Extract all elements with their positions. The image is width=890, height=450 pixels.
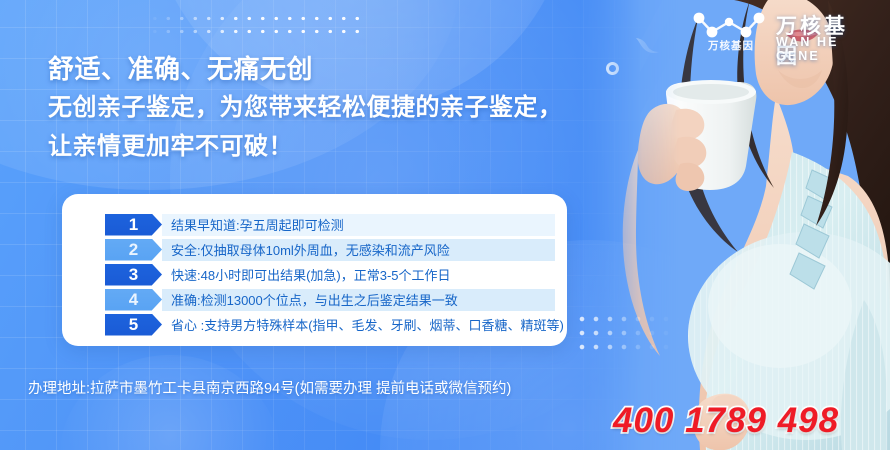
list-item-number: 2 — [105, 239, 162, 261]
list-item: 2 安全:仅抽取母体10ml外周血，无感染和流产风险 — [105, 237, 555, 262]
headline-line-1: 舒适、准确、无痛无创 — [48, 52, 648, 86]
brand-name-en: WAN HE GENE — [776, 35, 870, 63]
headline-block: 舒适、准确、无痛无创 无创亲子鉴定，为您带来轻松便捷的亲子鉴定， 让亲情更加牢不… — [48, 52, 648, 164]
list-item-number: 3 — [105, 264, 162, 286]
list-item-label: 结果早知道:孕五周起即可检测 — [162, 214, 555, 236]
list-item: 5 省心 :支持男方特殊样本(指甲、毛发、牙刷、烟蒂、口香糖、精斑等) — [105, 312, 555, 337]
list-item-label: 快速:48小时即可出结果(加急)，正常3-5个工作日 — [162, 264, 555, 286]
headline-line-2: 无创亲子鉴定，为您带来轻松便捷的亲子鉴定， — [48, 91, 648, 125]
hotline-number[interactable]: 400 1789 498 — [613, 401, 839, 441]
list-item-number: 5 — [105, 314, 162, 336]
list-item: 4 准确:检测13000个位点，与出生之后鉴定结果一致 — [105, 287, 555, 312]
logo-mark-label: 万核基因 — [700, 38, 762, 53]
promo-banner: 万核基因 万核基因 WAN HE GENE 舒适、准确、无痛无创 无创亲子鉴定，… — [0, 0, 890, 450]
molecule-node-icon — [690, 8, 768, 42]
list-item-number: 1 — [105, 214, 162, 236]
list-item: 3 快速:48小时即可出结果(加急)，正常3-5个工作日 — [105, 262, 555, 287]
list-item-label: 省心 :支持男方特殊样本(指甲、毛发、牙刷、烟蒂、口香糖、精斑等) — [162, 314, 564, 336]
list-item: 1 结果早知道:孕五周起即可检测 — [105, 212, 555, 237]
list-item-number: 4 — [105, 289, 162, 311]
list-item-label: 准确:检测13000个位点，与出生之后鉴定结果一致 — [162, 289, 555, 311]
headline-line-3: 让亲情更加牢不可破！ — [48, 130, 648, 164]
brand-logo: 万核基因 万核基因 WAN HE GENE — [690, 8, 870, 54]
dot-grid-top-icon — [148, 12, 360, 38]
feature-list: 1 结果早知道:孕五周起即可检测 2 安全:仅抽取母体10ml外周血，无感染和流… — [105, 212, 555, 337]
office-address: 办理地址:拉萨市墨竹工卡县南京西路94号(如需要办理 提前电话或微信预约) — [28, 377, 511, 398]
list-item-label: 安全:仅抽取母体10ml外周血，无感染和流产风险 — [162, 239, 555, 261]
